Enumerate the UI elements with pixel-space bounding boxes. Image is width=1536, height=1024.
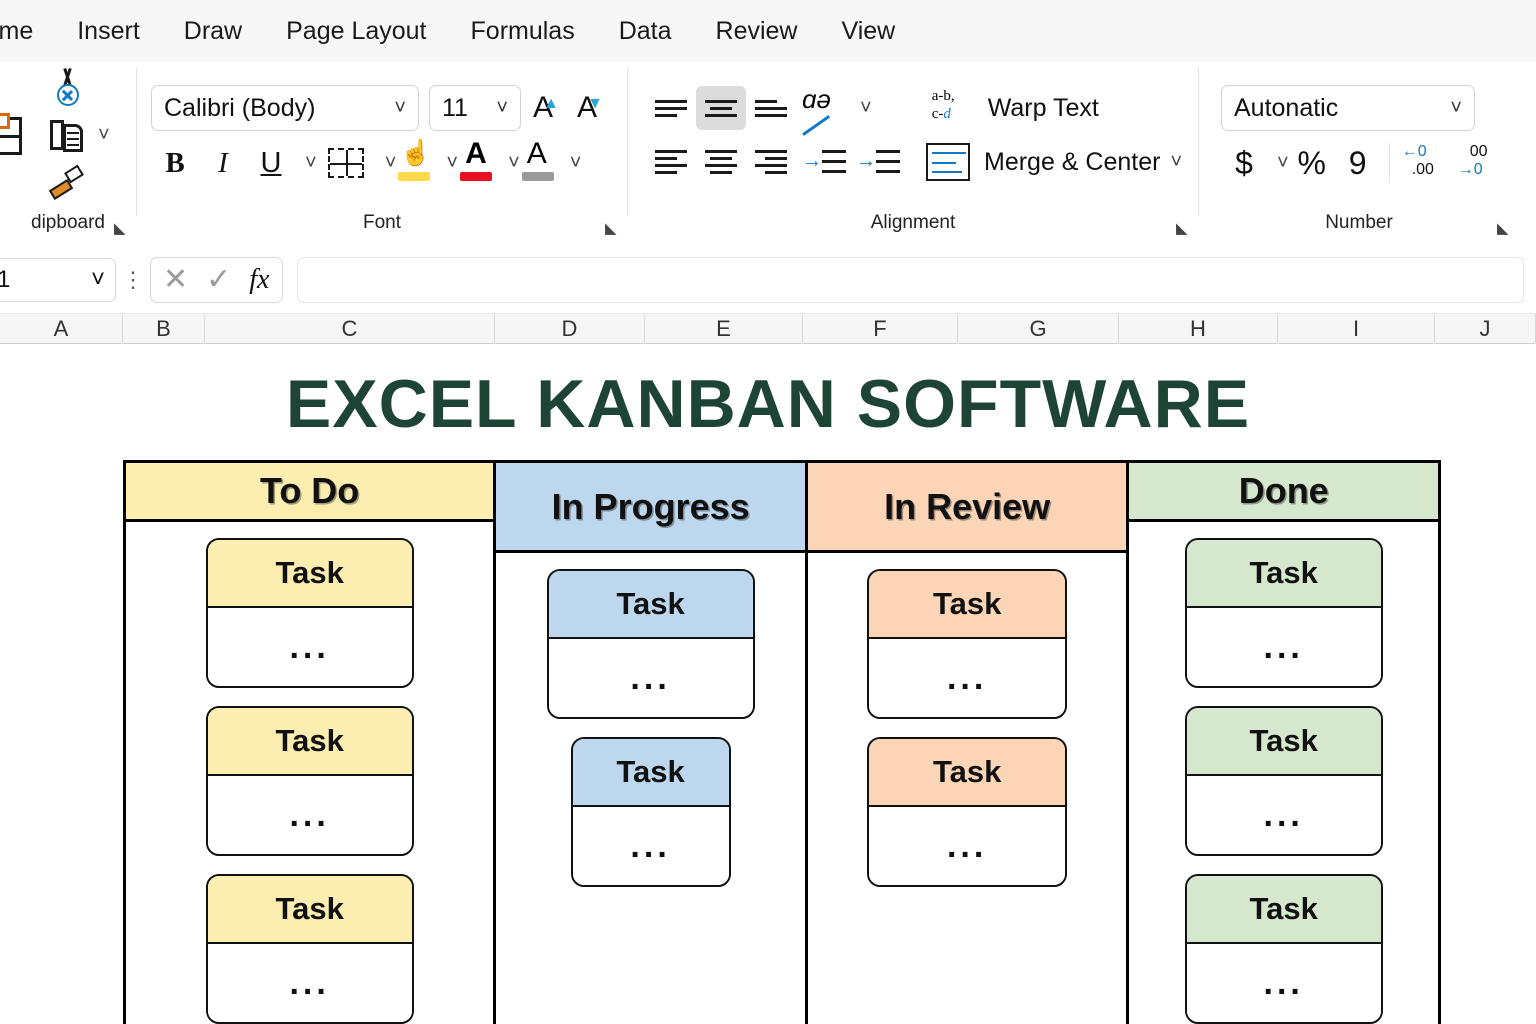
column-header-J[interactable]: J	[1435, 314, 1536, 344]
font-color-swatch	[460, 172, 492, 181]
formula-bar: 1 ˅ ⋮ ✕ ✓ fx	[0, 246, 1536, 314]
ribbon-tab-page-layout[interactable]: Page Layout	[264, 0, 448, 62]
kanban-card-body[interactable]: ...	[1187, 776, 1381, 854]
kanban-card[interactable]: Task...	[206, 874, 414, 1024]
copy-icon	[46, 114, 88, 156]
kanban-column-body: Task...Task...Task...	[126, 522, 493, 1024]
align-right-icon	[755, 146, 787, 178]
chevron-down-icon: ˅	[394, 97, 406, 120]
kanban-card-body[interactable]: ...	[208, 944, 412, 1022]
kanban-column-done: DoneTask...Task...Task...	[1129, 463, 1438, 1024]
kanban-card[interactable]: Task...	[1185, 874, 1383, 1024]
spreadsheet-grid: EXCEL KANBAN SOFTWARE To DoTask...Task..…	[0, 345, 1536, 1024]
format-painter-icon	[46, 162, 88, 204]
paste-icon	[0, 113, 22, 157]
align-top-icon	[655, 96, 687, 121]
font-name-combo[interactable]: Calibri (Body) ˅	[151, 85, 419, 131]
name-box[interactable]: 1 ˅	[0, 258, 116, 302]
ribbon-group-number: Autonatic ˅ $ ˅ % 9 ←0 .00	[1199, 62, 1519, 242]
ribbon-group-font: Calibri (Body) ˅ 11 ˅ A▲ A▼	[137, 62, 627, 242]
font-name-value: Calibri (Body)	[164, 94, 315, 123]
borders-button[interactable]	[317, 148, 375, 178]
column-header-E[interactable]: E	[645, 314, 803, 344]
copy-button[interactable]: ˅	[46, 113, 110, 157]
dialog-launcher-icon[interactable]: ◣	[605, 222, 619, 236]
align-middle-button[interactable]	[696, 86, 746, 130]
kanban-column-header: To Do	[126, 463, 493, 522]
ribbon-group-clipboard: ˅ dipboard ◣	[0, 62, 136, 242]
kanban-card[interactable]: Task...	[206, 706, 414, 856]
chevron-down-icon: ˅	[91, 266, 105, 294]
align-middle-icon	[705, 96, 737, 121]
ribbon-tab-draw[interactable]: Draw	[162, 0, 264, 62]
kanban-card-title: Task	[869, 571, 1065, 639]
kanban-column-body: Task...Task...	[808, 553, 1127, 1024]
kanban-card[interactable]: Task...	[547, 569, 755, 719]
kanban-card-title: Task	[573, 739, 729, 807]
align-bottom-icon	[755, 96, 787, 121]
ribbon-tab-bar: fimeInsertDrawPage LayoutFormulasDataRev…	[0, 0, 1536, 62]
chevron-down-icon[interactable]: ˅	[1277, 152, 1289, 175]
chevron-down-icon[interactable]: ˅	[385, 152, 397, 175]
increase-indent-icon: →	[856, 157, 876, 165]
chevron-down-icon[interactable]: ˅	[508, 152, 520, 175]
excel-window: fimeInsertDrawPage LayoutFormulasDataRev…	[0, 0, 1536, 1024]
kanban-column-header: In Progress	[496, 463, 805, 553]
ribbon-tab-formulas[interactable]: Formulas	[449, 0, 597, 62]
align-top-button[interactable]	[646, 86, 696, 130]
increase-decimal-button[interactable]: ←0 .00	[1398, 141, 1454, 185]
kanban-card-title: Task	[1187, 708, 1381, 776]
kanban-card-title: Task	[208, 708, 412, 776]
kanban-card-title: Task	[1187, 540, 1381, 608]
align-left-button[interactable]	[646, 140, 696, 184]
wrap-text-button[interactable]: Warp Text	[988, 94, 1099, 123]
chevron-down-icon[interactable]: ˅	[570, 152, 582, 175]
kanban-card-title: Task	[208, 540, 412, 608]
merge-center-icon	[926, 143, 970, 181]
kanban-column-in-review: In ReviewTask...Task...	[808, 463, 1130, 1024]
chevron-down-icon[interactable]: ˅	[305, 152, 317, 175]
kanban-card-title: Task	[549, 571, 753, 639]
number-format-combo[interactable]: Autonatic ˅	[1221, 85, 1475, 131]
column-header-A[interactable]: A	[0, 314, 123, 344]
column-header-row: ABCDEFGHIJ	[0, 314, 1536, 344]
number-group-label: Number	[1199, 208, 1519, 242]
chevron-down-icon: ˅	[496, 97, 508, 120]
format-painter-button[interactable]	[46, 161, 110, 205]
formula-actions: ✕ ✓ fx	[150, 257, 283, 303]
increase-indent-button[interactable]: →	[850, 140, 904, 184]
chevron-down-icon[interactable]: ˅	[98, 124, 110, 147]
kanban-column-body: Task...Task...Task...	[1129, 522, 1438, 1024]
font-color-alt-swatch	[522, 172, 554, 181]
font-color-alt-button[interactable]: A	[520, 141, 560, 185]
ribbon-tab-fime[interactable]: fime	[0, 0, 55, 62]
alignment-group-label: Alignment	[628, 208, 1198, 242]
kanban-column-in-progress: In ProgressTask...Task...	[496, 463, 808, 1024]
column-header-B[interactable]: B	[123, 314, 205, 344]
chevron-down-icon[interactable]: ˅	[860, 97, 872, 120]
ribbon-tab-view[interactable]: View	[820, 0, 918, 62]
kanban-card[interactable]: Task...	[1185, 706, 1383, 856]
align-center-button[interactable]	[696, 140, 746, 184]
chevron-down-icon: ˅	[1450, 97, 1462, 120]
comma-style-button[interactable]: 9	[1335, 145, 1381, 182]
kanban-card-body[interactable]: ...	[208, 608, 412, 686]
fill-color-button[interactable]: ☝	[396, 141, 436, 185]
kanban-card-body[interactable]: ...	[549, 639, 753, 717]
enter-icon[interactable]: ✓	[206, 262, 231, 297]
increase-font-size-button[interactable]: A▲	[521, 91, 565, 125]
column-header-I[interactable]: I	[1278, 314, 1435, 344]
paste-button[interactable]	[0, 113, 36, 157]
borders-icon	[328, 148, 364, 178]
dialog-launcher-icon[interactable]: ◣	[1176, 222, 1190, 236]
cut-button[interactable]	[46, 65, 110, 109]
formula-input[interactable]	[297, 257, 1525, 303]
kanban-board: To DoTask...Task...Task...In ProgressTas…	[123, 460, 1441, 1024]
kanban-card[interactable]: Task...	[571, 737, 731, 887]
merge-center-button[interactable]: Merge & Center	[984, 148, 1160, 177]
decrease-decimal-button[interactable]: 00 →0	[1454, 141, 1510, 185]
font-color-button[interactable]: A	[458, 141, 498, 185]
bold-button[interactable]: B	[151, 147, 199, 180]
ribbon-group-alignment: ɑǝ ˅ a-b,c-d Warp Text	[628, 62, 1198, 242]
kanban-card[interactable]: Task...	[1185, 538, 1383, 688]
ribbon-tab-insert[interactable]: Insert	[55, 0, 162, 62]
cancel-icon[interactable]: ✕	[163, 262, 188, 297]
number-format-value: Autonatic	[1234, 94, 1338, 123]
font-size-value: 11	[442, 94, 468, 123]
more-options-icon[interactable]: ⋮	[122, 275, 144, 285]
cut-icon	[46, 66, 88, 108]
ribbon-tab-data[interactable]: Data	[597, 0, 694, 62]
decrease-indent-button[interactable]: →	[796, 140, 850, 184]
kanban-card-body[interactable]: ...	[869, 807, 1065, 885]
wrap-text-icon: a-b,c-d	[930, 86, 974, 130]
align-bottom-button[interactable]	[746, 86, 796, 130]
orientation-icon: ɑǝ	[802, 84, 831, 115]
align-center-icon	[705, 146, 737, 178]
decrease-font-size-button[interactable]: A▼	[565, 91, 609, 125]
column-header-G[interactable]: G	[958, 314, 1119, 344]
column-header-F[interactable]: F	[803, 314, 958, 344]
fill-color-swatch	[398, 172, 430, 181]
page-title: EXCEL KANBAN SOFTWARE	[0, 365, 1536, 443]
dialog-launcher-icon[interactable]: ◣	[1497, 222, 1511, 236]
dialog-launcher-icon[interactable]: ◣	[114, 222, 128, 236]
column-header-D[interactable]: D	[495, 314, 645, 344]
chevron-down-icon[interactable]: ˅	[446, 152, 458, 175]
underline-button[interactable]: U	[247, 147, 295, 180]
kanban-card[interactable]: Task...	[867, 737, 1067, 887]
kanban-card[interactable]: Task...	[867, 569, 1067, 719]
italic-button[interactable]: I	[199, 147, 247, 180]
kanban-card-title: Task	[869, 739, 1065, 807]
column-header-C[interactable]: C	[205, 314, 495, 344]
name-box-value: 1	[0, 266, 10, 294]
kanban-column-to-do: To DoTask...Task...Task...	[126, 463, 496, 1024]
percent-button[interactable]: %	[1289, 145, 1335, 182]
column-header-H[interactable]: H	[1119, 314, 1278, 344]
ribbon: ˅ dipboard ◣ Calibri (	[0, 62, 1536, 242]
orientation-button[interactable]: ɑǝ	[796, 86, 850, 130]
ribbon-tab-review[interactable]: Review	[694, 0, 820, 62]
kanban-card-body[interactable]: ...	[1187, 944, 1381, 1022]
kanban-card-body[interactable]: ...	[1187, 608, 1381, 686]
font-group-label: Font	[137, 208, 627, 242]
chevron-down-icon[interactable]: ˅	[1170, 151, 1182, 174]
kanban-column-header: Done	[1129, 463, 1438, 522]
kanban-column-body: Task...Task...	[496, 553, 805, 1024]
kanban-card[interactable]: Task...	[206, 538, 414, 688]
kanban-card-title: Task	[1187, 876, 1381, 944]
kanban-card-body[interactable]: ...	[573, 807, 729, 885]
kanban-card-body[interactable]: ...	[869, 639, 1065, 717]
currency-button[interactable]: $	[1221, 145, 1267, 182]
fill-hand-icon: ☝	[400, 139, 431, 168]
insert-function-icon[interactable]: fx	[249, 264, 269, 296]
font-size-combo[interactable]: 11 ˅	[429, 85, 521, 131]
kanban-card-title: Task	[208, 876, 412, 944]
kanban-column-header: In Review	[808, 463, 1127, 553]
decrease-indent-icon: →	[802, 157, 822, 165]
align-left-icon	[655, 146, 687, 178]
align-right-button[interactable]	[746, 140, 796, 184]
kanban-card-body[interactable]: ...	[208, 776, 412, 854]
